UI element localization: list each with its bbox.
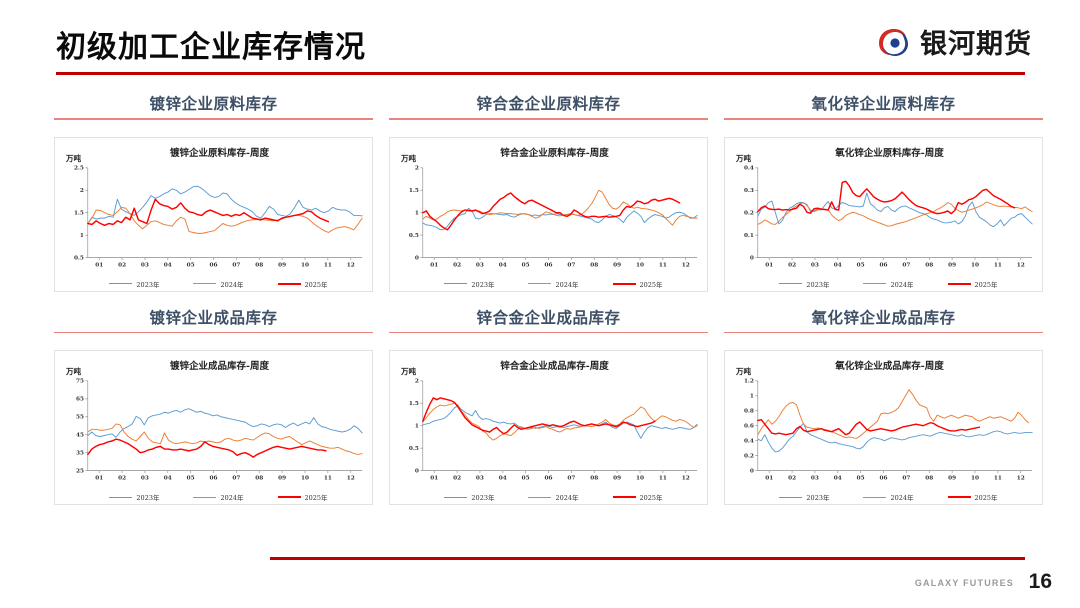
svg-text:04: 04 — [164, 476, 172, 482]
svg-text:1.2: 1.2 — [744, 379, 754, 385]
svg-text:09: 09 — [613, 262, 621, 268]
chart-1-ylabel: 万吨 — [401, 153, 416, 164]
svg-text:1: 1 — [415, 210, 419, 216]
chart-grid: 镀锌企业原料库存 万吨 镀锌企业原料库存-周度 0.511.522.501020… — [0, 92, 1080, 505]
chart-5-plot: 00.20.40.60.811.201020304050607080910111… — [729, 377, 1036, 484]
svg-text:0.5: 0.5 — [74, 255, 84, 261]
legend-line-icon-2025 — [948, 283, 971, 285]
chart-2-title: 氧化锌企业原料库存-周度 — [743, 145, 1036, 159]
chart-1: 万吨 锌合金企业原料库存-周度 00.511.52010203040506070… — [389, 137, 708, 292]
svg-text:07: 07 — [567, 476, 575, 482]
chart-row-top: 镀锌企业原料库存 万吨 镀锌企业原料库存-周度 0.511.522.501020… — [0, 92, 1080, 292]
legend-line-icon-2025 — [613, 283, 636, 285]
svg-text:0: 0 — [750, 255, 754, 261]
legend-item-2025: 2025年 — [948, 492, 998, 502]
legend-item-2023: 2023年 — [109, 279, 159, 289]
legend-line-icon-2025 — [278, 496, 301, 498]
svg-text:04: 04 — [499, 262, 507, 268]
svg-text:10: 10 — [971, 476, 979, 482]
legend-line-icon-2025 — [613, 496, 636, 498]
chart-3-plot: 253545556575010203040506070809101112 — [59, 377, 366, 484]
svg-text:04: 04 — [164, 262, 172, 268]
legend-item-2023: 2023年 — [779, 279, 829, 289]
footer-brand-text: GALAXY FUTURES — [915, 578, 1014, 588]
svg-text:03: 03 — [811, 262, 819, 268]
legend-item-2023: 2023年 — [779, 492, 829, 502]
svg-text:0: 0 — [415, 469, 419, 475]
legend-line-icon-2024 — [863, 283, 886, 284]
svg-text:1: 1 — [80, 233, 84, 239]
svg-text:07: 07 — [567, 262, 575, 268]
svg-text:0.5: 0.5 — [409, 233, 419, 239]
title-divider — [56, 72, 1025, 75]
svg-text:75: 75 — [76, 379, 84, 385]
chart-5: 万吨 氧化锌企业成品库存-周度 00.20.40.60.811.20102030… — [724, 350, 1043, 505]
svg-text:09: 09 — [278, 476, 286, 482]
svg-text:10: 10 — [636, 262, 644, 268]
panel-3-header: 镀锌企业成品库存 — [54, 306, 373, 337]
legend-item-2025: 2025年 — [948, 279, 998, 289]
svg-text:08: 08 — [255, 262, 263, 268]
chart-3-legend: 2023年 2024年 2025年 — [55, 492, 372, 502]
svg-text:09: 09 — [278, 262, 286, 268]
svg-text:02: 02 — [788, 262, 796, 268]
svg-text:05: 05 — [857, 262, 865, 268]
panel-1: 锌合金企业原料库存 万吨 锌合金企业原料库存-周度 00.511.5201020… — [381, 92, 716, 292]
svg-text:0.2: 0.2 — [744, 210, 754, 216]
svg-text:03: 03 — [141, 476, 149, 482]
panel-0-header: 镀锌企业原料库存 — [54, 92, 373, 123]
panel-1-header: 锌合金企业原料库存 — [389, 92, 708, 123]
svg-text:05: 05 — [857, 476, 865, 482]
svg-text:05: 05 — [187, 476, 195, 482]
svg-text:1: 1 — [750, 394, 754, 400]
svg-text:04: 04 — [499, 476, 507, 482]
svg-text:2.5: 2.5 — [74, 165, 84, 171]
svg-text:0.4: 0.4 — [744, 165, 754, 171]
svg-text:06: 06 — [210, 262, 218, 268]
svg-text:08: 08 — [925, 476, 933, 482]
legend-line-icon-2024 — [863, 497, 886, 498]
svg-text:07: 07 — [902, 262, 910, 268]
svg-text:01: 01 — [95, 476, 103, 482]
footer-divider — [270, 557, 1025, 560]
svg-text:1.5: 1.5 — [409, 401, 419, 407]
chart-5-ylabel: 万吨 — [736, 366, 751, 377]
legend-label-2023: 2023年 — [806, 492, 829, 502]
svg-text:11: 11 — [994, 262, 1002, 268]
svg-text:05: 05 — [187, 262, 195, 268]
panel-5-underline — [724, 332, 1043, 334]
svg-text:10: 10 — [636, 476, 644, 482]
legend-line-icon-2024 — [528, 283, 551, 284]
svg-text:09: 09 — [948, 262, 956, 268]
chart-1-legend: 2023年 2024年 2025年 — [390, 279, 707, 289]
legend-line-icon-2024 — [193, 283, 216, 284]
legend-label-2025: 2025年 — [975, 492, 998, 502]
svg-text:02: 02 — [453, 262, 461, 268]
svg-text:03: 03 — [811, 476, 819, 482]
svg-text:06: 06 — [880, 262, 888, 268]
chart-4-plot: 00.511.52010203040506070809101112 — [394, 377, 701, 484]
chart-2-ylabel: 万吨 — [736, 153, 751, 164]
svg-text:02: 02 — [118, 476, 126, 482]
brand-name: 银河期货 — [920, 22, 1032, 61]
svg-text:03: 03 — [141, 262, 149, 268]
legend-label-2025: 2025年 — [305, 492, 328, 502]
panel-2-underline — [724, 118, 1043, 120]
legend-line-icon-2025 — [278, 283, 301, 285]
legend-line-icon-2023 — [444, 283, 467, 284]
legend-label-2025: 2025年 — [975, 279, 998, 289]
legend-item-2023: 2023年 — [444, 279, 494, 289]
svg-text:06: 06 — [545, 262, 553, 268]
svg-text:05: 05 — [522, 476, 530, 482]
panel-2: 氧化锌企业原料库存 万吨 氧化锌企业原料库存-周度 00.10.20.30.40… — [716, 92, 1051, 292]
chart-5-title: 氧化锌企业成品库存-周度 — [743, 358, 1036, 372]
svg-text:0.4: 0.4 — [744, 439, 754, 445]
legend-item-2025: 2025年 — [613, 279, 663, 289]
chart-3: 万吨 镀锌企业成品库存-周度 2535455565750102030405060… — [54, 350, 373, 505]
svg-text:11: 11 — [324, 476, 332, 482]
svg-text:02: 02 — [118, 262, 126, 268]
svg-text:1: 1 — [415, 424, 419, 430]
chart-0-ylabel: 万吨 — [66, 153, 81, 164]
legend-label-2024: 2024年 — [220, 279, 243, 289]
legend-label-2025: 2025年 — [640, 279, 663, 289]
panel-5-header: 氧化锌企业成品库存 — [724, 306, 1043, 337]
svg-text:12: 12 — [1017, 262, 1025, 268]
legend-item-2024: 2024年 — [528, 279, 578, 289]
legend-item-2025: 2025年 — [278, 279, 328, 289]
legend-label-2023: 2023年 — [806, 279, 829, 289]
svg-text:12: 12 — [347, 476, 355, 482]
panel-3-heading: 镀锌企业成品库存 — [54, 306, 373, 328]
svg-text:01: 01 — [95, 262, 103, 268]
legend-label-2023: 2023年 — [471, 279, 494, 289]
chart-3-ylabel: 万吨 — [66, 366, 81, 377]
svg-text:1.5: 1.5 — [409, 188, 419, 194]
chart-1-plot: 00.511.52010203040506070809101112 — [394, 164, 701, 271]
panel-5-heading: 氧化锌企业成品库存 — [724, 306, 1043, 328]
svg-text:0.5: 0.5 — [409, 446, 419, 452]
svg-text:0.3: 0.3 — [744, 188, 754, 194]
legend-item-2024: 2024年 — [863, 492, 913, 502]
legend-item-2025: 2025年 — [613, 492, 663, 502]
svg-text:55: 55 — [76, 415, 84, 421]
chart-4-title: 锌合金企业成品库存-周度 — [408, 358, 701, 372]
legend-line-icon-2023 — [779, 497, 802, 498]
chart-1-title: 锌合金企业原料库存-周度 — [408, 145, 701, 159]
svg-text:0.6: 0.6 — [744, 424, 754, 430]
legend-label-2023: 2023年 — [136, 279, 159, 289]
svg-text:12: 12 — [1017, 476, 1025, 482]
chart-4-ylabel: 万吨 — [401, 366, 416, 377]
svg-text:11: 11 — [994, 476, 1002, 482]
svg-text:02: 02 — [453, 476, 461, 482]
svg-text:04: 04 — [834, 262, 842, 268]
svg-text:2: 2 — [415, 379, 419, 385]
svg-text:0.1: 0.1 — [744, 233, 754, 239]
svg-text:07: 07 — [902, 476, 910, 482]
chart-0-legend: 2023年 2024年 2025年 — [55, 279, 372, 289]
svg-text:11: 11 — [324, 262, 332, 268]
legend-label-2024: 2024年 — [890, 492, 913, 502]
svg-text:25: 25 — [76, 469, 84, 475]
svg-text:10: 10 — [971, 262, 979, 268]
svg-text:06: 06 — [210, 476, 218, 482]
legend-label-2024: 2024年 — [220, 492, 243, 502]
svg-text:01: 01 — [765, 476, 773, 482]
svg-text:02: 02 — [788, 476, 796, 482]
legend-line-icon-2023 — [444, 497, 467, 498]
panel-3-underline — [54, 332, 373, 334]
svg-text:07: 07 — [232, 476, 240, 482]
legend-line-icon-2023 — [109, 497, 132, 498]
chart-4-legend: 2023年 2024年 2025年 — [390, 492, 707, 502]
slide-root: 初级加工企业库存情况 银河期货 镀锌企业原料库存 万吨 镀锌企业原料库存-周度 — [0, 0, 1080, 608]
panel-4-underline — [389, 332, 708, 334]
svg-text:07: 07 — [232, 262, 240, 268]
panel-1-underline — [389, 118, 708, 120]
panel-3: 镀锌企业成品库存 万吨 镀锌企业成品库存-周度 2535455565750102… — [46, 306, 381, 506]
svg-text:08: 08 — [590, 476, 598, 482]
svg-text:11: 11 — [659, 476, 667, 482]
chart-0-plot: 0.511.522.5010203040506070809101112 — [59, 164, 366, 271]
legend-label-2024: 2024年 — [555, 279, 578, 289]
svg-text:10: 10 — [301, 476, 309, 482]
legend-line-icon-2024 — [528, 497, 551, 498]
svg-text:06: 06 — [880, 476, 888, 482]
svg-text:10: 10 — [301, 262, 309, 268]
panel-1-heading: 锌合金企业原料库存 — [389, 92, 708, 114]
legend-line-icon-2023 — [109, 283, 132, 284]
svg-text:12: 12 — [347, 262, 355, 268]
galaxy-swoosh-icon — [877, 27, 911, 57]
svg-text:03: 03 — [476, 476, 484, 482]
svg-text:05: 05 — [522, 262, 530, 268]
panel-4: 锌合金企业成品库存 万吨 锌合金企业成品库存-周度 00.511.5201020… — [381, 306, 716, 506]
panel-2-header: 氧化锌企业原料库存 — [724, 92, 1043, 123]
chart-2-legend: 2023年 2024年 2025年 — [725, 279, 1042, 289]
legend-item-2023: 2023年 — [109, 492, 159, 502]
panel-5: 氧化锌企业成品库存 万吨 氧化锌企业成品库存-周度 00.20.40.60.81… — [716, 306, 1051, 506]
brand-logo: 银河期货 — [877, 22, 1032, 61]
svg-text:12: 12 — [682, 262, 690, 268]
legend-label-2024: 2024年 — [890, 279, 913, 289]
page-title: 初级加工企业库存情况 — [56, 22, 366, 66]
svg-text:2: 2 — [415, 165, 419, 171]
svg-text:11: 11 — [659, 262, 667, 268]
legend-item-2024: 2024年 — [863, 279, 913, 289]
svg-text:08: 08 — [590, 262, 598, 268]
svg-text:01: 01 — [430, 262, 438, 268]
svg-text:65: 65 — [76, 397, 84, 403]
svg-text:12: 12 — [682, 476, 690, 482]
chart-0-title: 镀锌企业原料库存-周度 — [73, 145, 366, 159]
svg-text:45: 45 — [76, 433, 84, 439]
legend-label-2023: 2023年 — [136, 492, 159, 502]
svg-text:06: 06 — [545, 476, 553, 482]
legend-item-2024: 2024年 — [193, 492, 243, 502]
page-number: 16 — [1029, 570, 1052, 594]
legend-item-2023: 2023年 — [444, 492, 494, 502]
legend-item-2024: 2024年 — [193, 279, 243, 289]
panel-0-heading: 镀锌企业原料库存 — [54, 92, 373, 114]
panel-2-heading: 氧化锌企业原料库存 — [724, 92, 1043, 114]
svg-text:03: 03 — [476, 262, 484, 268]
legend-label-2024: 2024年 — [555, 492, 578, 502]
chart-5-legend: 2023年 2024年 2025年 — [725, 492, 1042, 502]
svg-text:09: 09 — [948, 476, 956, 482]
legend-item-2024: 2024年 — [528, 492, 578, 502]
svg-text:0: 0 — [750, 469, 754, 475]
svg-text:09: 09 — [613, 476, 621, 482]
svg-text:01: 01 — [765, 262, 773, 268]
chart-0: 万吨 镀锌企业原料库存-周度 0.511.522.501020304050607… — [54, 137, 373, 292]
chart-3-title: 镀锌企业成品库存-周度 — [73, 358, 366, 372]
svg-text:1.5: 1.5 — [74, 210, 84, 216]
svg-text:01: 01 — [430, 476, 438, 482]
svg-text:2: 2 — [80, 188, 84, 194]
svg-text:0.8: 0.8 — [744, 409, 754, 415]
svg-text:08: 08 — [925, 262, 933, 268]
panel-0-underline — [54, 118, 373, 120]
chart-4: 万吨 锌合金企业成品库存-周度 00.511.52010203040506070… — [389, 350, 708, 505]
legend-label-2025: 2025年 — [305, 279, 328, 289]
chart-2-plot: 00.10.20.30.4010203040506070809101112 — [729, 164, 1036, 271]
svg-text:08: 08 — [255, 476, 263, 482]
legend-label-2025: 2025年 — [640, 492, 663, 502]
legend-label-2023: 2023年 — [471, 492, 494, 502]
svg-text:04: 04 — [834, 476, 842, 482]
legend-line-icon-2025 — [948, 496, 971, 498]
legend-line-icon-2024 — [193, 497, 216, 498]
legend-item-2025: 2025年 — [278, 492, 328, 502]
panel-4-heading: 锌合金企业成品库存 — [389, 306, 708, 328]
panel-0: 镀锌企业原料库存 万吨 镀锌企业原料库存-周度 0.511.522.501020… — [46, 92, 381, 292]
legend-line-icon-2023 — [779, 283, 802, 284]
panel-4-header: 锌合金企业成品库存 — [389, 306, 708, 337]
svg-text:0: 0 — [415, 255, 419, 261]
svg-text:0.2: 0.2 — [744, 454, 754, 460]
chart-2: 万吨 氧化锌企业原料库存-周度 00.10.20.30.401020304050… — [724, 137, 1043, 292]
svg-text:35: 35 — [76, 451, 84, 457]
chart-row-bottom: 镀锌企业成品库存 万吨 镀锌企业成品库存-周度 2535455565750102… — [0, 306, 1080, 506]
